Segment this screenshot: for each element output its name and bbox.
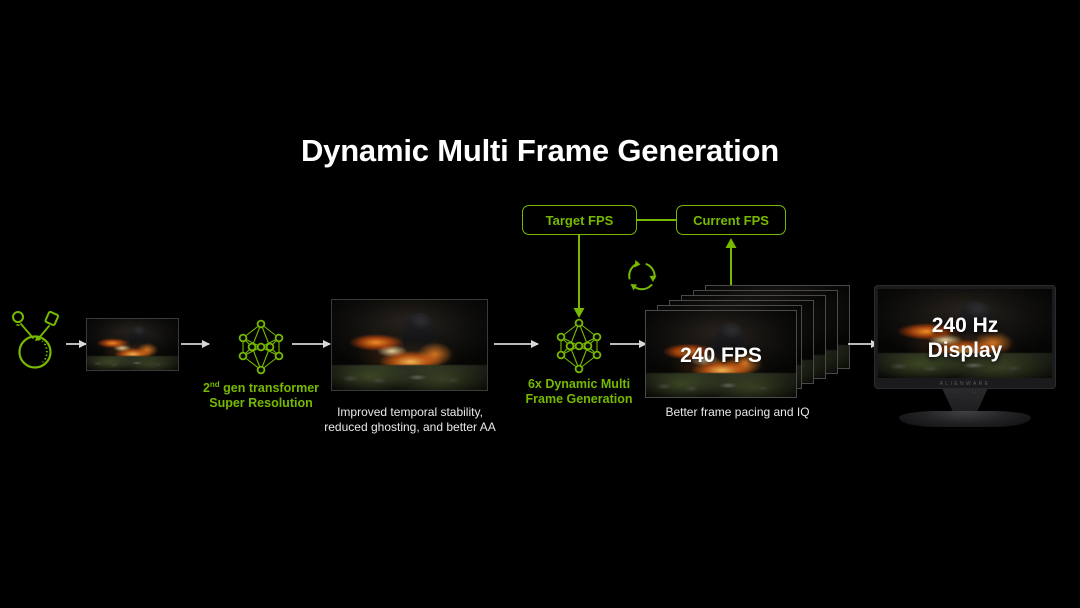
display-monitor: 240 Hz Display ALIENWARE [874, 285, 1056, 430]
connector-arrow-4 [494, 343, 538, 345]
caption-line-2: reduced ghosting, and better AA [305, 420, 515, 435]
target-fps-label: Target FPS [546, 213, 614, 228]
caption-line-1: Improved temporal stability, [305, 405, 515, 420]
target-fps-box[interactable]: Target FPS [522, 205, 637, 235]
fps-link-line [637, 219, 676, 221]
frame-generation-label: 6x Dynamic Multi Frame Generation [504, 377, 654, 407]
sr-label-prefix: 2 [203, 381, 210, 395]
fg-label-line1: 6x Dynamic Multi [504, 377, 654, 392]
display-overlay-text: 240 Hz Display [878, 313, 1052, 363]
monitor-brand-label: ALIENWARE [874, 381, 1056, 387]
slide-canvas: Dynamic Multi Frame Generation [0, 0, 1080, 608]
raytraced-scene-icon [8, 305, 66, 371]
frame-pacing-caption: Better frame pacing and IQ [630, 405, 845, 420]
connector-arrow-5 [610, 343, 646, 345]
generated-frame-stack: 240 FPS [645, 285, 855, 395]
upscaled-frame-thumbnail [331, 299, 488, 391]
current-fps-label: Current FPS [693, 213, 769, 228]
neural-network-icon-frame-generation [550, 317, 608, 375]
display-line-1: 240 Hz [878, 313, 1052, 338]
neural-network-icon-super-resolution [232, 318, 290, 376]
current-fps-arrowhead-up-icon [725, 235, 737, 245]
monitor-screen: 240 Hz Display [878, 289, 1052, 378]
connector-arrow-2 [181, 343, 209, 345]
monitor-bezel: 240 Hz Display ALIENWARE [874, 285, 1056, 389]
generated-fps-overlay: 240 FPS [646, 344, 796, 368]
monitor-stand-base [899, 411, 1031, 427]
frame-stack-front-sheet: 240 FPS [645, 310, 797, 398]
target-fps-arrowhead-down-icon [573, 305, 585, 315]
sr-label-sup: nd [210, 380, 220, 389]
page-title: Dynamic Multi Frame Generation [0, 133, 1080, 169]
connector-arrow-1 [66, 343, 86, 345]
current-fps-box[interactable]: Current FPS [676, 205, 786, 235]
target-fps-down-line [578, 235, 580, 311]
source-frame-thumbnail [86, 318, 179, 371]
upscaled-frame-caption: Improved temporal stability, reduced gho… [305, 405, 515, 435]
connector-arrow-3 [292, 343, 330, 345]
display-line-2: Display [878, 338, 1052, 363]
sr-label-suffix: gen transformer [220, 381, 319, 395]
